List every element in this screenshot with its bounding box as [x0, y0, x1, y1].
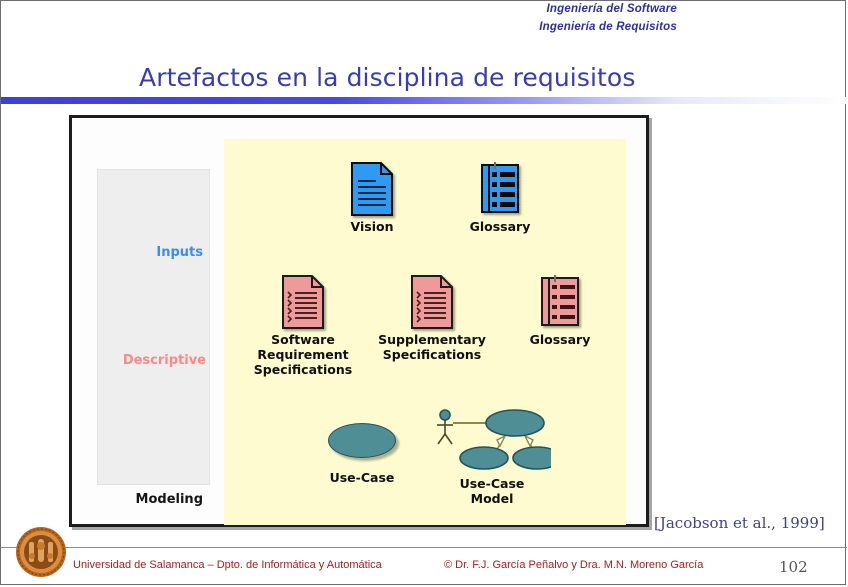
band-label-descriptive: Descriptive	[123, 353, 206, 368]
band-label-inputs: Inputs	[156, 245, 203, 260]
book-icon	[538, 273, 582, 329]
page-title: Artefactos en la disciplina de requisito…	[139, 63, 635, 92]
artifacts-diagram: Inputs Descriptive Modeling	[69, 115, 649, 527]
university-seal-logo	[15, 526, 67, 578]
title-divider	[1, 97, 847, 104]
artifact-glossary-descriptive: Glossary	[510, 273, 610, 347]
artifact-caption: Use-Case Model	[427, 476, 557, 506]
artifact-caption: Software Requirement Specifications	[242, 332, 364, 377]
artifact-glossary-input: Glossary	[450, 160, 550, 234]
header-course-title: Ingeniería del Software	[547, 3, 678, 15]
document-icon	[351, 162, 393, 216]
book-icon	[478, 160, 522, 216]
footer-institution: Universidad de Salamanca – Dpto. de Info…	[73, 559, 382, 571]
artifact-caption: Use-Case	[312, 470, 412, 485]
artifact-vision: Vision	[327, 162, 417, 234]
document-icon	[282, 275, 324, 329]
discipline-bands-panel: Inputs Descriptive Modeling	[97, 169, 210, 485]
band-label-modeling: Modeling	[136, 492, 203, 507]
artifact-caption: Glossary	[450, 219, 550, 234]
page-number: 102	[779, 558, 808, 576]
artifact-supplementary-specifications: Supplementary Specifications	[366, 275, 498, 362]
artifact-caption: Vision	[327, 219, 417, 234]
header-topic-title: Ingeniería de Requisitos	[539, 21, 677, 33]
footer-divider	[1, 547, 847, 548]
citation: [Jacobson et al., 1999]	[654, 514, 825, 532]
slide: Ingeniería del Software Ingeniería de Re…	[0, 0, 846, 585]
document-icon	[411, 275, 453, 329]
artifact-use-case-model: Use-Case Model	[427, 408, 557, 506]
ellipse-icon	[328, 423, 396, 458]
footer-authors: © Dr. F.J. García Peñalvo y Dra. M.N. Mo…	[444, 559, 703, 571]
artifact-srs: Software Requirement Specifications	[242, 275, 364, 377]
artifact-caption: Glossary	[510, 332, 610, 347]
artifact-use-case: Use-Case	[312, 423, 412, 485]
use-case-model-icon	[433, 408, 551, 470]
artifact-caption: Supplementary Specifications	[366, 332, 498, 362]
